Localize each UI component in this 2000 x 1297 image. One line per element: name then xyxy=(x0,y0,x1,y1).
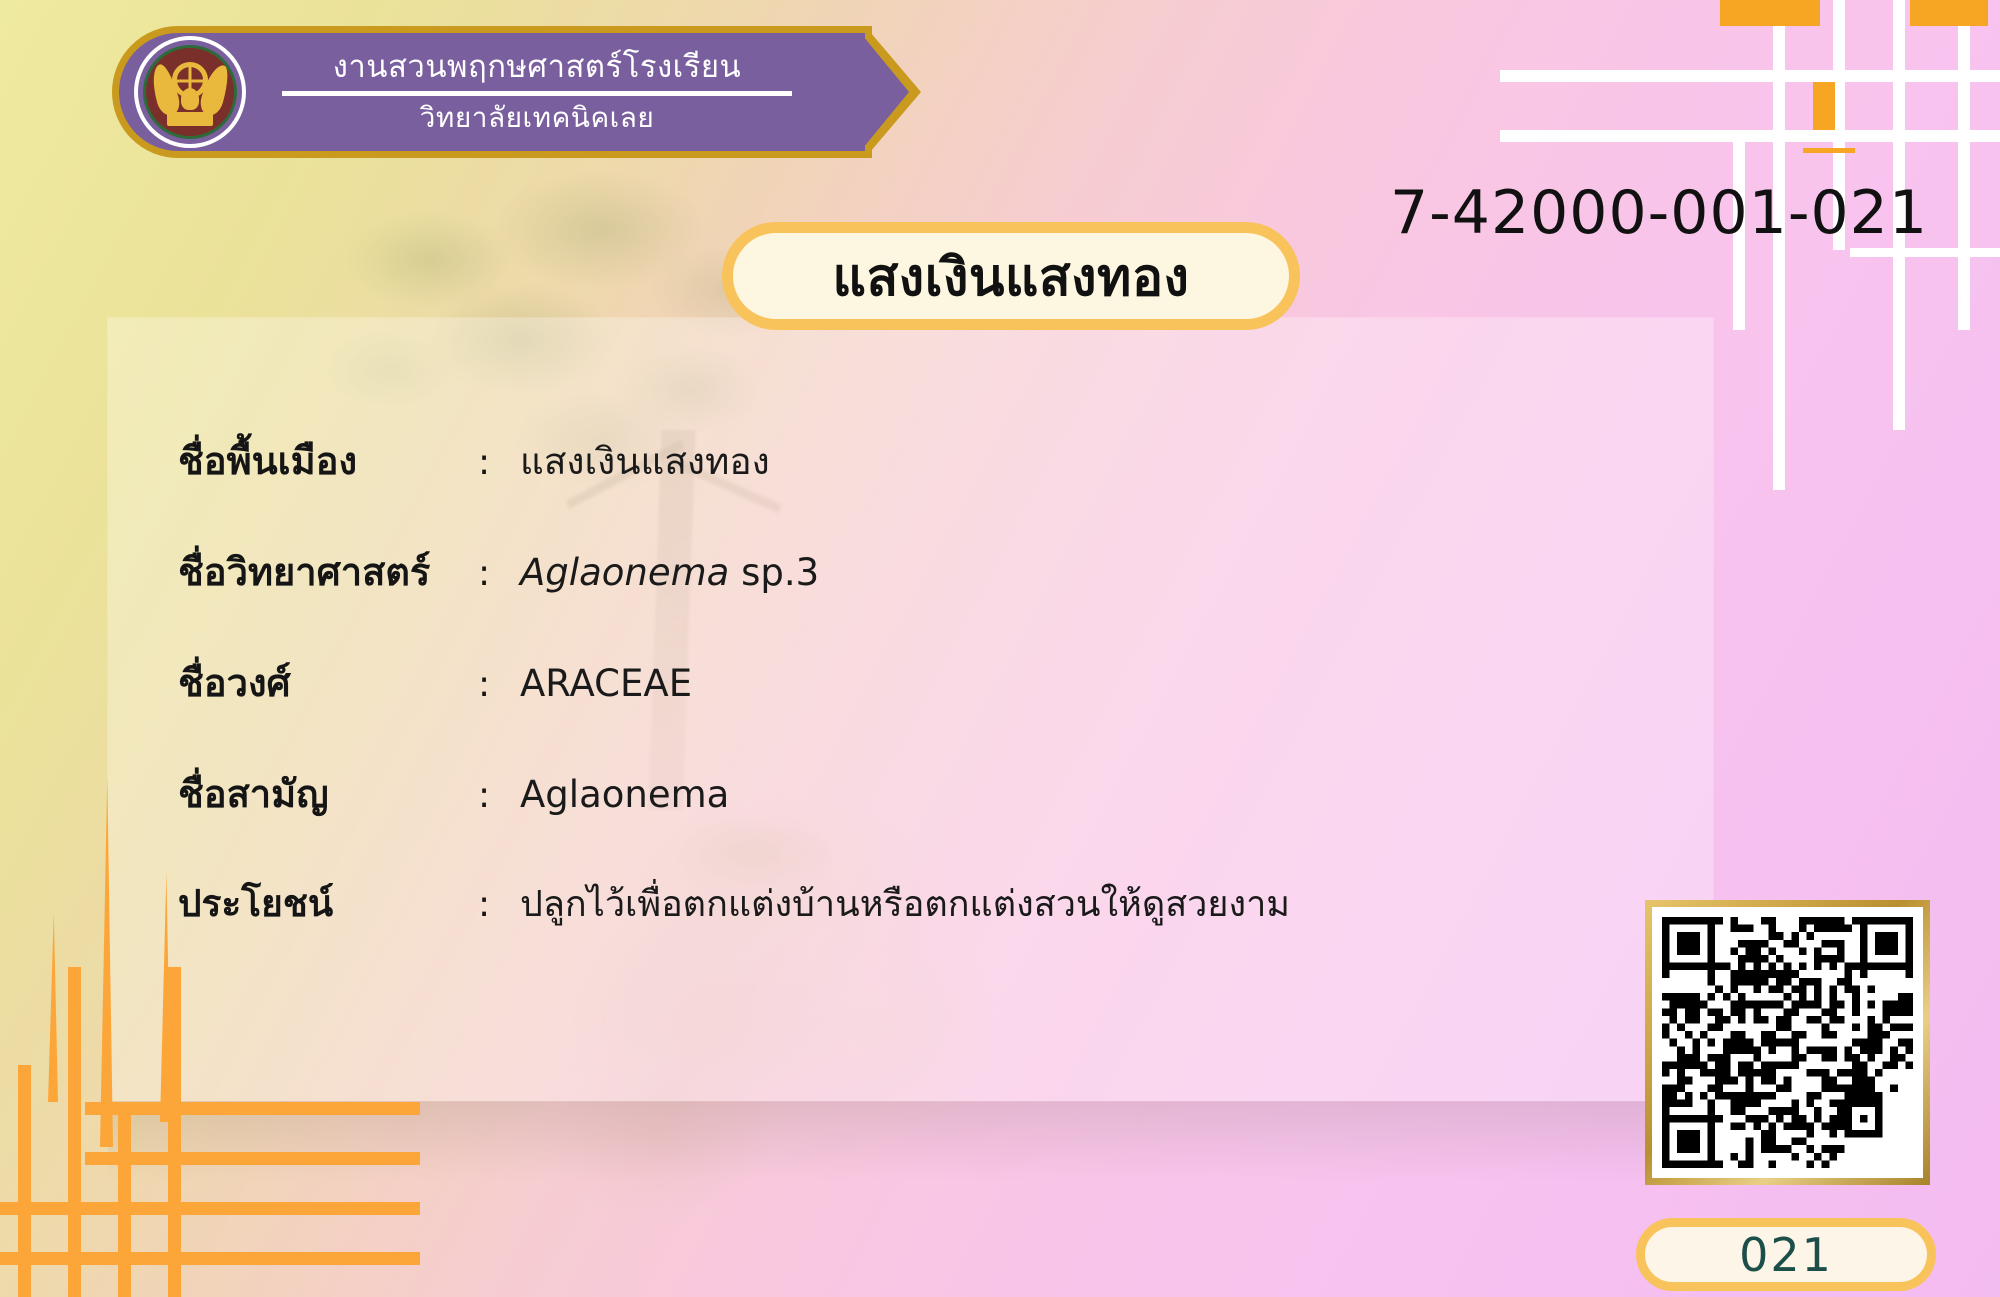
info-label: ชื่อพื้นเมือง xyxy=(178,430,478,491)
decor-grid-top-right xyxy=(1500,0,2000,520)
info-value: แสงเงินแสงทอง xyxy=(520,432,770,491)
info-row: ชื่อวิทยาศาสตร์ : Aglaonema sp.3 xyxy=(178,541,1538,652)
scientific-name-suffix: sp.3 xyxy=(729,551,819,594)
qr-code-icon[interactable] xyxy=(1662,917,1913,1168)
header-divider xyxy=(282,91,792,96)
specimen-number-pill: 021 xyxy=(1636,1218,1936,1291)
plant-title-text: แสงเงินแสงทอง xyxy=(833,235,1190,318)
info-row: ประโยชน์ : ปลูกไว้เพื่อตกแต่งบ้านหรือตกแ… xyxy=(178,874,1538,985)
info-value: ปลูกไว้เพื่อตกแต่งบ้านหรือตกแต่งสวนให้ดู… xyxy=(520,875,1290,932)
info-label: ชื่อสามัญ xyxy=(178,763,478,824)
info-label: ประโยชน์ xyxy=(178,874,478,933)
info-label: ชื่อวิทยาศาสตร์ xyxy=(178,541,478,602)
info-separator: : xyxy=(478,553,520,594)
info-row: ชื่อพื้นเมือง : แสงเงินแสงทอง xyxy=(178,430,1538,541)
info-separator: : xyxy=(478,664,520,705)
header-plaque: งานสวนพฤกษศาสตร์โรงเรียน วิทยาลัยเทคนิคเ… xyxy=(112,26,872,158)
scientific-name-genus: Aglaonema xyxy=(520,551,729,594)
info-value: Aglaonema sp.3 xyxy=(520,551,819,594)
info-label: ชื่อวงศ์ xyxy=(178,652,478,713)
info-value: Aglaonema xyxy=(520,773,729,816)
info-separator: : xyxy=(478,775,520,816)
college-emblem-icon xyxy=(134,36,246,148)
header-org-line2: วิทยาลัยเทคนิคเลย xyxy=(420,103,655,134)
plant-label-card: งานสวนพฤกษศาสตร์โรงเรียน วิทยาลัยเทคนิคเ… xyxy=(0,0,2000,1297)
info-rows: ชื่อพื้นเมือง : แสงเงินแสงทอง ชื่อวิทยาศ… xyxy=(178,430,1538,985)
decor-grid-bottom-left xyxy=(0,967,420,1297)
header-org-line1: งานสวนพฤกษศาสตร์โรงเรียน xyxy=(333,50,742,84)
info-separator: : xyxy=(478,442,520,483)
plant-title-pill: แสงเงินแสงทอง xyxy=(722,222,1300,330)
info-separator: : xyxy=(478,884,520,925)
header-text-block: งานสวนพฤกษศาสตร์โรงเรียน วิทยาลัยเทคนิคเ… xyxy=(272,26,802,158)
plant-code-text: 7-42000-001-021 xyxy=(1390,178,1928,248)
info-value: ARACEAE xyxy=(520,662,692,705)
qr-code-frame[interactable] xyxy=(1645,900,1930,1185)
info-row: ชื่อสามัญ : Aglaonema xyxy=(178,763,1538,874)
specimen-number-text: 021 xyxy=(1739,1228,1833,1282)
info-row: ชื่อวงศ์ : ARACEAE xyxy=(178,652,1538,763)
